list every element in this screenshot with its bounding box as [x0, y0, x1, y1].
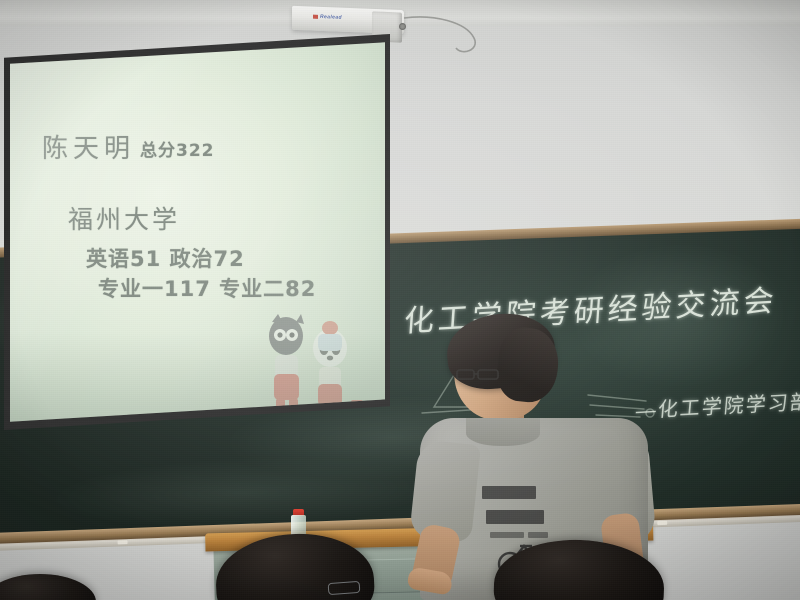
screen-surface: 陈天明 总分322 福州大学 英语51 政治72 专业一117 专业二82 [10, 40, 385, 424]
roller-brand-logo: Realead [320, 14, 342, 21]
classroom-photo-scene: 化工学院考研经验交流会 —化工学院学习部 Realead 陈天明 总分322 福… [0, 0, 800, 600]
audience-eyeglasses-icon [328, 581, 361, 595]
projection-screen[interactable]: 陈天明 总分322 福州大学 英语51 政治72 专业一117 专业二82 [4, 34, 390, 430]
shirt-collar [466, 418, 540, 446]
chalk-tray-nub [118, 540, 128, 544]
chalk-tray-nub [657, 521, 667, 525]
water-bottle[interactable] [291, 509, 306, 537]
screen-bottom-shading [10, 332, 385, 424]
eyeglasses-icon [456, 368, 502, 381]
wall-mount-screw-icon [399, 23, 406, 30]
